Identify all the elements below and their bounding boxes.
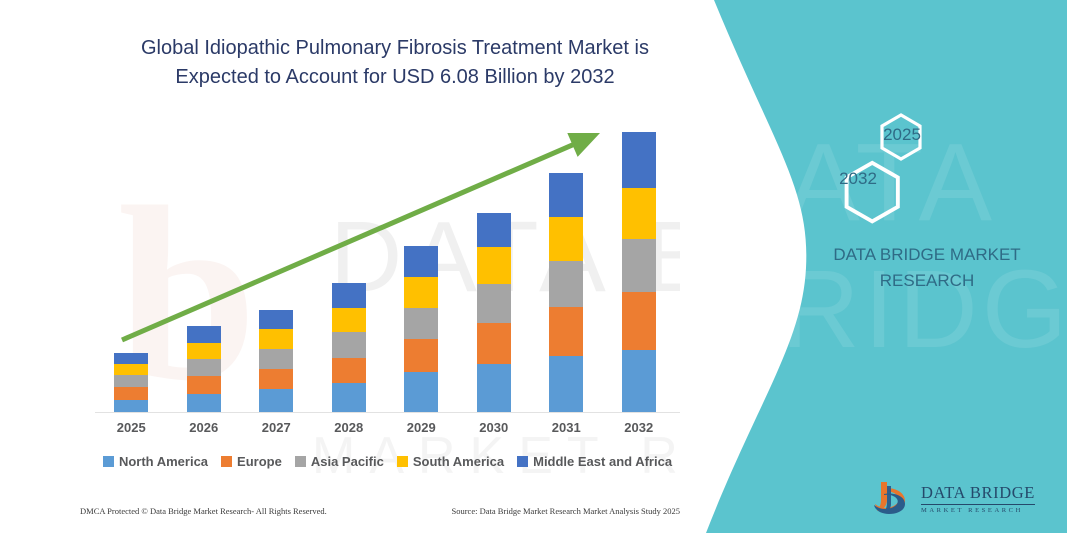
bar-segment-south-america[interactable] bbox=[114, 364, 148, 375]
x-axis-label-2032: 2032 bbox=[604, 420, 674, 435]
bar-segment-south-america[interactable] bbox=[187, 343, 221, 359]
bar-segment-middle-east-and-africa[interactable] bbox=[259, 310, 293, 329]
bar-segment-asia-pacific[interactable] bbox=[404, 308, 438, 340]
chart-axis-line bbox=[95, 412, 680, 413]
legend-item-north-america[interactable]: North America bbox=[103, 454, 208, 469]
footer-source: Source: Data Bridge Market Research Mark… bbox=[451, 506, 680, 516]
legend-item-europe[interactable]: Europe bbox=[221, 454, 282, 469]
logo-tagline: MARKET RESEARCH bbox=[921, 507, 1035, 514]
bar-segment-south-america[interactable] bbox=[477, 247, 511, 284]
page-title: Global Idiopathic Pulmonary Fibrosis Tre… bbox=[90, 34, 700, 92]
bar-segment-europe[interactable] bbox=[187, 376, 221, 393]
x-axis-label-2027: 2027 bbox=[241, 420, 311, 435]
legend-item-south-america[interactable]: South America bbox=[397, 454, 504, 469]
chart-bar-2032[interactable] bbox=[622, 132, 656, 413]
bar-segment-north-america[interactable] bbox=[622, 350, 656, 413]
chart-plot-area bbox=[95, 120, 675, 413]
brand-name: DATA BRIDGE MARKET RESEARCH bbox=[787, 242, 1067, 293]
bar-segment-europe[interactable] bbox=[114, 387, 148, 399]
slide-canvas: b DATA BRIDGE MARKET RESEARCH DATA BRIDG… bbox=[0, 0, 1067, 533]
brand-name-line2: RESEARCH bbox=[787, 268, 1067, 294]
chart-x-axis-labels: 20252026202720282029203020312032 bbox=[95, 420, 675, 442]
page-title-line2: Expected to Account for USD 6.08 Billion… bbox=[90, 63, 700, 92]
logo-name: DATA BRIDGE bbox=[921, 483, 1035, 503]
chart-bar-2026[interactable] bbox=[187, 326, 221, 413]
chart-legend: North AmericaEuropeAsia PacificSouth Ame… bbox=[95, 454, 680, 469]
bar-segment-middle-east-and-africa[interactable] bbox=[549, 173, 583, 217]
bar-segment-asia-pacific[interactable] bbox=[259, 349, 293, 369]
legend-swatch-icon bbox=[295, 456, 306, 467]
footer: DMCA Protected © Data Bridge Market Rese… bbox=[80, 506, 680, 516]
bar-segment-north-america[interactable] bbox=[114, 400, 148, 413]
bar-segment-north-america[interactable] bbox=[187, 394, 221, 413]
bar-segment-middle-east-and-africa[interactable] bbox=[187, 326, 221, 342]
legend-label: Middle East and Africa bbox=[533, 454, 672, 469]
bar-segment-south-america[interactable] bbox=[622, 188, 656, 239]
x-axis-label-2025: 2025 bbox=[96, 420, 166, 435]
bar-segment-asia-pacific[interactable] bbox=[332, 332, 366, 358]
company-logo: DATA BRIDGE MARKET RESEARCH bbox=[872, 476, 1052, 520]
x-axis-label-2029: 2029 bbox=[386, 420, 456, 435]
bar-segment-north-america[interactable] bbox=[259, 389, 293, 413]
bar-segment-europe[interactable] bbox=[477, 323, 511, 364]
x-axis-label-2026: 2026 bbox=[169, 420, 239, 435]
bar-segment-middle-east-and-africa[interactable] bbox=[332, 283, 366, 308]
page-title-line1: Global Idiopathic Pulmonary Fibrosis Tre… bbox=[90, 34, 700, 63]
legend-item-asia-pacific[interactable]: Asia Pacific bbox=[295, 454, 384, 469]
chart-bar-2029[interactable] bbox=[404, 246, 438, 413]
bar-segment-europe[interactable] bbox=[259, 369, 293, 389]
bar-segment-north-america[interactable] bbox=[332, 383, 366, 413]
footer-copyright: DMCA Protected © Data Bridge Market Rese… bbox=[80, 506, 327, 516]
hexagon-2032-label: 2032 bbox=[839, 169, 877, 188]
bar-segment-north-america[interactable] bbox=[549, 356, 583, 413]
legend-label: Asia Pacific bbox=[311, 454, 384, 469]
hexagon-pair-icon: 2032 2025 bbox=[826, 108, 944, 226]
bar-segment-north-america[interactable] bbox=[404, 372, 438, 413]
bar-segment-middle-east-and-africa[interactable] bbox=[114, 353, 148, 364]
brand-name-line1: DATA BRIDGE MARKET bbox=[787, 242, 1067, 268]
legend-swatch-icon bbox=[397, 456, 408, 467]
bar-segment-europe[interactable] bbox=[622, 292, 656, 349]
x-axis-label-2028: 2028 bbox=[314, 420, 384, 435]
bar-segment-europe[interactable] bbox=[332, 358, 366, 384]
bar-segment-asia-pacific[interactable] bbox=[187, 359, 221, 376]
x-axis-label-2031: 2031 bbox=[531, 420, 601, 435]
bar-segment-middle-east-and-africa[interactable] bbox=[622, 132, 656, 188]
legend-swatch-icon bbox=[103, 456, 114, 467]
bar-segment-asia-pacific[interactable] bbox=[477, 284, 511, 323]
bar-segment-south-america[interactable] bbox=[549, 217, 583, 261]
bar-segment-asia-pacific[interactable] bbox=[114, 375, 148, 387]
chart-bar-2025[interactable] bbox=[114, 353, 148, 413]
legend-label: South America bbox=[413, 454, 504, 469]
bar-segment-south-america[interactable] bbox=[259, 329, 293, 348]
legend-label: North America bbox=[119, 454, 208, 469]
legend-label: Europe bbox=[237, 454, 282, 469]
x-axis-label-2030: 2030 bbox=[459, 420, 529, 435]
databridge-mark-icon bbox=[872, 478, 912, 518]
legend-swatch-icon bbox=[221, 456, 232, 467]
legend-item-middle-east-and-africa[interactable]: Middle East and Africa bbox=[517, 454, 672, 469]
bar-segment-asia-pacific[interactable] bbox=[549, 261, 583, 307]
bar-segment-asia-pacific[interactable] bbox=[622, 239, 656, 292]
chart-bar-2028[interactable] bbox=[332, 283, 366, 413]
bar-segment-south-america[interactable] bbox=[404, 277, 438, 308]
bar-segment-south-america[interactable] bbox=[332, 308, 366, 333]
bar-segment-europe[interactable] bbox=[404, 339, 438, 372]
logo-divider bbox=[921, 504, 1035, 505]
legend-swatch-icon bbox=[517, 456, 528, 467]
chart-bar-2027[interactable] bbox=[259, 310, 293, 413]
bar-segment-middle-east-and-africa[interactable] bbox=[477, 213, 511, 248]
bar-segment-middle-east-and-africa[interactable] bbox=[404, 246, 438, 277]
bar-segment-europe[interactable] bbox=[549, 307, 583, 356]
chart-bar-2031[interactable] bbox=[549, 173, 583, 413]
chart-bar-2030[interactable] bbox=[477, 213, 511, 413]
hexagon-2025-label: 2025 bbox=[883, 125, 921, 144]
bar-segment-north-america[interactable] bbox=[477, 364, 511, 413]
